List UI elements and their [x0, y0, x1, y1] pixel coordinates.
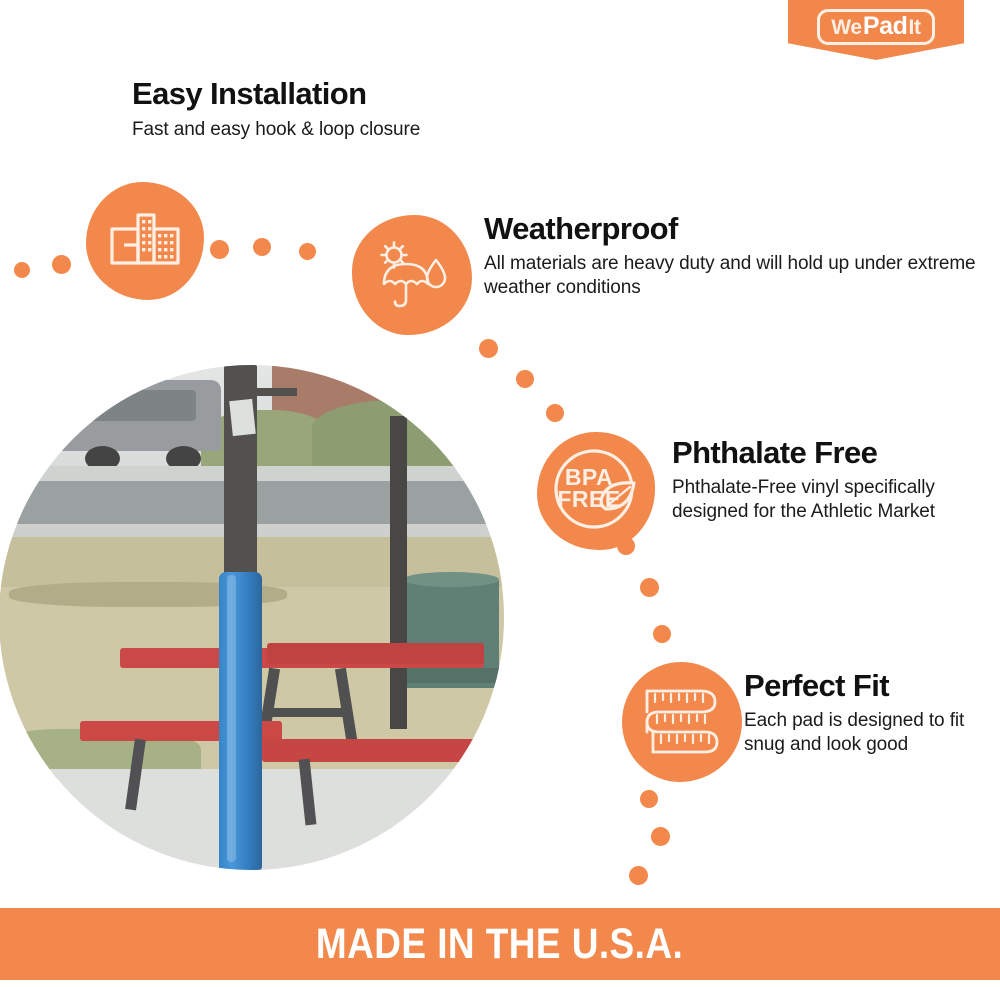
trail-dot [52, 255, 71, 274]
bpa-free-label: BPA FREE [537, 432, 655, 550]
trail-dot [653, 625, 671, 643]
trail-dot [299, 243, 316, 260]
feature-title: Perfect Fit [744, 670, 1000, 703]
building-installation-icon [86, 182, 204, 300]
logo-plate: We Pad It [817, 9, 934, 45]
bpa-label-line2: FREE [557, 489, 620, 511]
brand-logo: We Pad It [788, 0, 964, 60]
trail-dot [651, 827, 670, 846]
trail-dot [640, 578, 659, 597]
feature-block-weatherproof: Weatherproof All materials are heavy dut… [484, 213, 1000, 301]
trail-dot [546, 404, 564, 422]
measuring-tape-icon [622, 662, 742, 782]
trail-dot [479, 339, 498, 358]
blue-pole-pad-on-park-pole-photo [0, 365, 504, 870]
bpa-free-leaf-icon: BPA FREE [537, 432, 655, 550]
logo-text-it: It [908, 17, 920, 38]
made-in-usa-text: MADE IN THE U.S.A. [316, 920, 683, 969]
feature-block-easy-installation: Easy Installation Fast and easy hook & l… [132, 78, 420, 142]
trail-dot [516, 370, 534, 388]
feature-title: Easy Installation [132, 78, 420, 111]
feature-block-perfect-fit: Perfect Fit Each pad is designed to fit … [744, 670, 1000, 758]
feature-title: Weatherproof [484, 213, 1000, 246]
logo-text-we: We [831, 17, 862, 38]
feature-body: Phthalate-Free vinyl specifically design… [672, 476, 1000, 525]
feature-block-phthalate-free: Phthalate Free Phthalate-Free vinyl spec… [672, 437, 1000, 525]
trail-dot [629, 866, 648, 885]
trail-dot [640, 790, 658, 808]
feature-body: Each pad is designed to fit snug and loo… [744, 709, 1000, 758]
infographic-canvas: We Pad It Easy Installation Fast and eas… [0, 0, 1000, 987]
sun-umbrella-raindrop-icon [352, 215, 472, 335]
trail-dot [253, 238, 271, 256]
feature-title: Phthalate Free [672, 437, 1000, 470]
trail-dot [210, 240, 229, 259]
feature-body: Fast and easy hook & loop closure [132, 118, 420, 143]
made-in-usa-banner: MADE IN THE U.S.A. [0, 908, 1000, 980]
logo-text-pad: Pad [862, 14, 909, 39]
trail-dot [14, 262, 30, 278]
feature-body: All materials are heavy duty and will ho… [484, 252, 1000, 301]
